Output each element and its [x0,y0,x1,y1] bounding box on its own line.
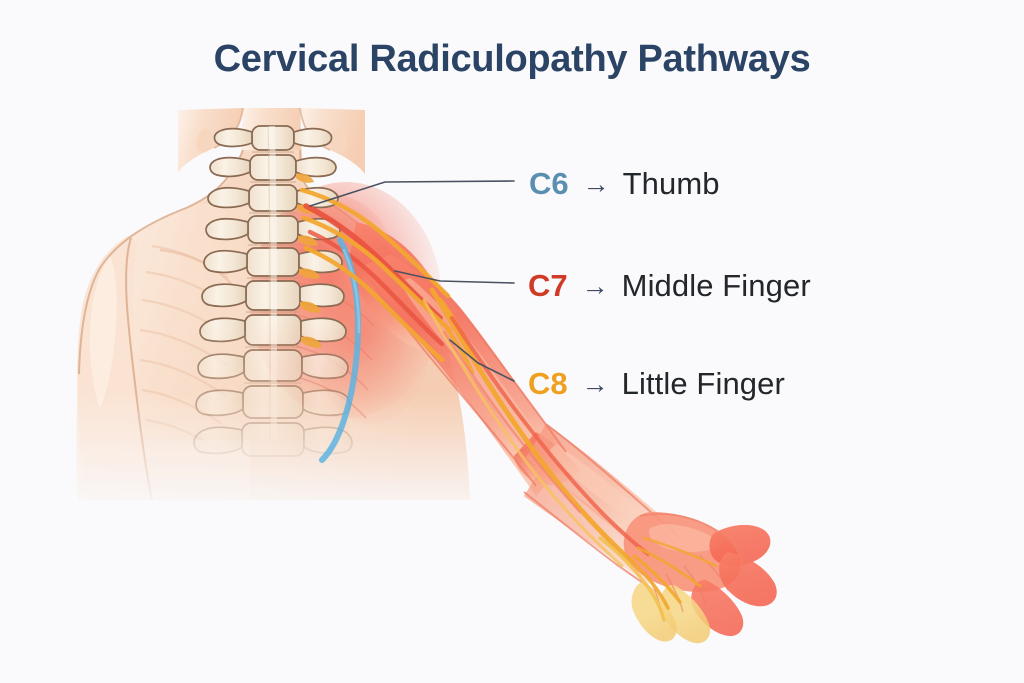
legend-code-c7: C7 [528,268,568,304]
legend-row-c8: C8 → Little Finger [528,366,785,402]
legend-code-c6: C6 [529,166,569,202]
legend-row-c7: C7 → Middle Finger [528,268,811,304]
legend-target-c8: Little Finger [622,366,785,402]
anatomy-illustration [0,0,1024,683]
cervical-spine [194,126,352,456]
arrow-icon: → [582,371,609,398]
illustration-page: Cervical Radiculopathy Pathways [0,0,1024,683]
arrow-icon: → [583,171,610,198]
legend-target-c7: Middle Finger [622,268,811,304]
legend-row-c6: C6 → Thumb [529,166,720,202]
legend-code-c8: C8 [528,366,568,402]
arrow-icon: → [582,273,609,300]
legend-target-c6: Thumb [623,166,720,202]
